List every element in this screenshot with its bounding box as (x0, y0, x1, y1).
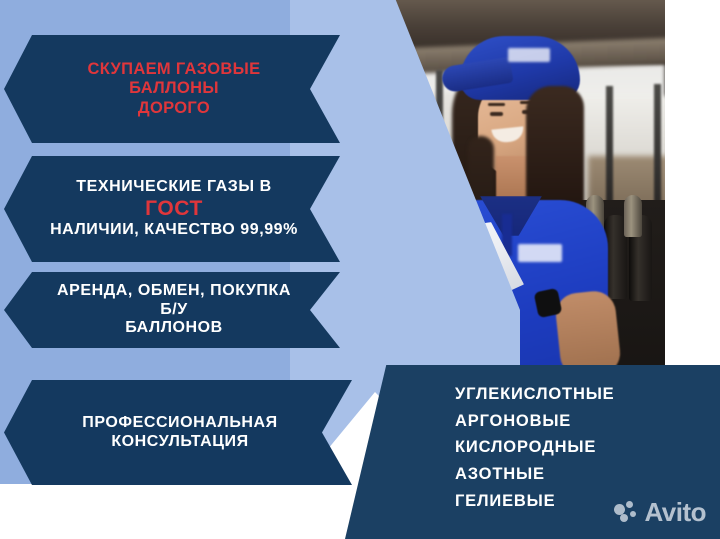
product-types-list: УГЛЕКИСЛОТНЫЕ АРГОНОВЫЕ КИСЛОРОДНЫЕ АЗОТ… (455, 381, 615, 515)
banner-buy: СКУПАЕМ ГАЗОВЫЕ БАЛЛОНЫ ДОРОГО (4, 35, 340, 143)
banner-rent-text: АРЕНДА, ОБМЕН, ПОКУПКА Б/У БАЛЛОНОВ (4, 282, 340, 339)
product-types-panel: УГЛЕКИСЛОТНЫЕ АРГОНОВЫЕ КИСЛОРОДНЫЕ АЗОТ… (345, 365, 720, 539)
product-item-argon: АРГОНОВЫЕ (455, 408, 615, 435)
banner-rent: АРЕНДА, ОБМЕН, ПОКУПКА Б/У БАЛЛОНОВ (4, 272, 340, 348)
banner-rent-line2: БАЛЛОНОВ (125, 319, 223, 336)
photo-person-eye (490, 112, 503, 116)
photo-person-brow (488, 103, 505, 106)
avito-dots-icon (614, 501, 638, 523)
photo-person-watch (534, 288, 563, 318)
product-item-helium: ГЕЛИЕВЫЕ (455, 488, 615, 515)
product-item-carbonic: УГЛЕКИСЛОТНЫЕ (455, 381, 615, 408)
banner-consultation-text: ПРОФЕССИОНАЛЬНАЯ КОНСУЛЬТАЦИЯ (38, 414, 317, 452)
banner-gases-line2: НАЛИЧИИ, КАЧЕСТВО 99,99% (50, 221, 298, 238)
bottom-white-strip (0, 484, 400, 539)
banner-gases-text: ТЕХНИЧЕСКИЕ ГАЗЫ В ГОСТ НАЛИЧИИ, КАЧЕСТВ… (4, 178, 340, 241)
banner-buy-line1: СКУПАЕМ ГАЗОВЫЕ БАЛЛОНЫ (88, 60, 261, 97)
avito-watermark: Avito (614, 499, 706, 525)
banner-gases-line1: ТЕХНИЧЕСКИЕ ГАЗЫ В (76, 178, 271, 195)
banner-gases-gost-highlight: ГОСТ (145, 197, 203, 220)
banner-consultation-line2: КОНСУЛЬТАЦИЯ (111, 433, 248, 450)
avito-wordmark: Avito (644, 499, 706, 525)
advert-poster: СКУПАЕМ ГАЗОВЫЕ БАЛЛОНЫ ДОРОГО ТЕХНИЧЕСК… (0, 0, 720, 539)
banner-rent-line1: АРЕНДА, ОБМЕН, ПОКУПКА Б/У (57, 282, 291, 318)
banner-consultation-line1: ПРОФЕССИОНАЛЬНАЯ (82, 414, 277, 431)
photo-post-5 (654, 84, 661, 218)
product-item-oxygen: КИСЛОРОДНЫЕ (455, 434, 615, 461)
photo-post-4 (606, 86, 613, 216)
product-item-nitrogen: АЗОТНЫЕ (455, 461, 615, 488)
photo-cap-logo (508, 48, 550, 62)
gas-cylinder (624, 195, 642, 237)
banner-buy-text: СКУПАЕМ ГАЗОВЫЕ БАЛЛОНЫ ДОРОГО (4, 60, 340, 118)
banner-consultation: ПРОФЕССИОНАЛЬНАЯ КОНСУЛЬТАЦИЯ (4, 380, 352, 485)
banner-gases: ТЕХНИЧЕСКИЕ ГАЗЫ В ГОСТ НАЛИЧИИ, КАЧЕСТВ… (4, 156, 340, 262)
banner-buy-line2: ДОРОГО (138, 99, 210, 117)
photo-shirt-logo (518, 244, 562, 262)
